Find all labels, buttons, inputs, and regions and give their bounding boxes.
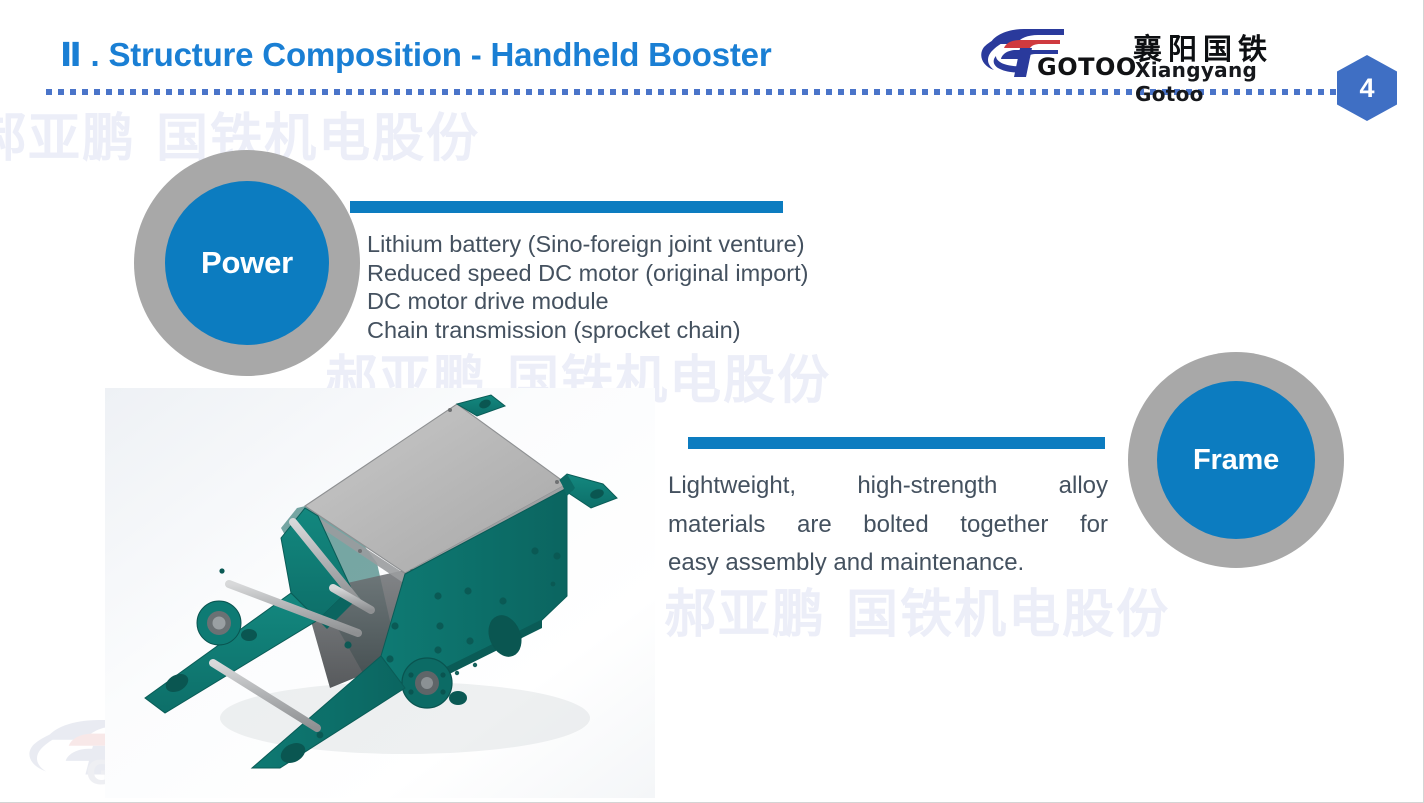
power-line: Lithium battery (Sino-foreign joint vent… xyxy=(367,230,887,259)
frame-label: Frame xyxy=(1193,444,1279,477)
watermark-text: 郝亚鹏 国铁机电股份 xyxy=(664,572,1170,647)
power-line: Reduced speed DC motor (original import) xyxy=(367,259,887,288)
frame-line: easy assembly and maintenance. xyxy=(668,544,1108,583)
page-number-badge: 4 xyxy=(1337,55,1397,121)
power-accent-bar xyxy=(350,201,783,213)
slide-title: Ⅱ . Structure Composition - Handheld Boo… xyxy=(60,35,771,74)
frame-accent-bar xyxy=(688,437,1105,449)
logo-wordmark: GOTOO xyxy=(1037,53,1137,81)
power-label: Power xyxy=(201,245,293,281)
product-image xyxy=(105,388,655,798)
power-line: Chain transmission (sprocket chain) xyxy=(367,316,887,345)
booster-frame-cad-illustration xyxy=(105,388,655,798)
frame-description: Lightweight, high-strength alloy materia… xyxy=(668,467,1108,583)
logo-english-name: Xiangyang Gotoo xyxy=(1135,58,1280,106)
presentation-slide: 郝亚鹏 国铁机电股份 郝亚鹏 国铁机电股份 郝亚鹏 国铁机电股份 Ⅱ . Str… xyxy=(0,0,1424,803)
frame-line: materials are bolted together for xyxy=(668,506,1108,545)
power-description: Lithium battery (Sino-foreign joint vent… xyxy=(367,230,887,344)
company-logo: GOTOO 襄阳国铁 Xiangyang Gotoo xyxy=(980,26,1280,84)
page-number: 4 xyxy=(1337,55,1397,121)
frame-line: Lightweight, high-strength alloy xyxy=(668,467,1108,506)
power-line: DC motor drive module xyxy=(367,287,887,316)
frame-circle-badge: Frame xyxy=(1128,352,1344,568)
power-circle-inner: Power xyxy=(165,181,329,345)
power-circle-badge: Power xyxy=(134,150,360,376)
frame-circle-inner: Frame xyxy=(1157,381,1315,539)
